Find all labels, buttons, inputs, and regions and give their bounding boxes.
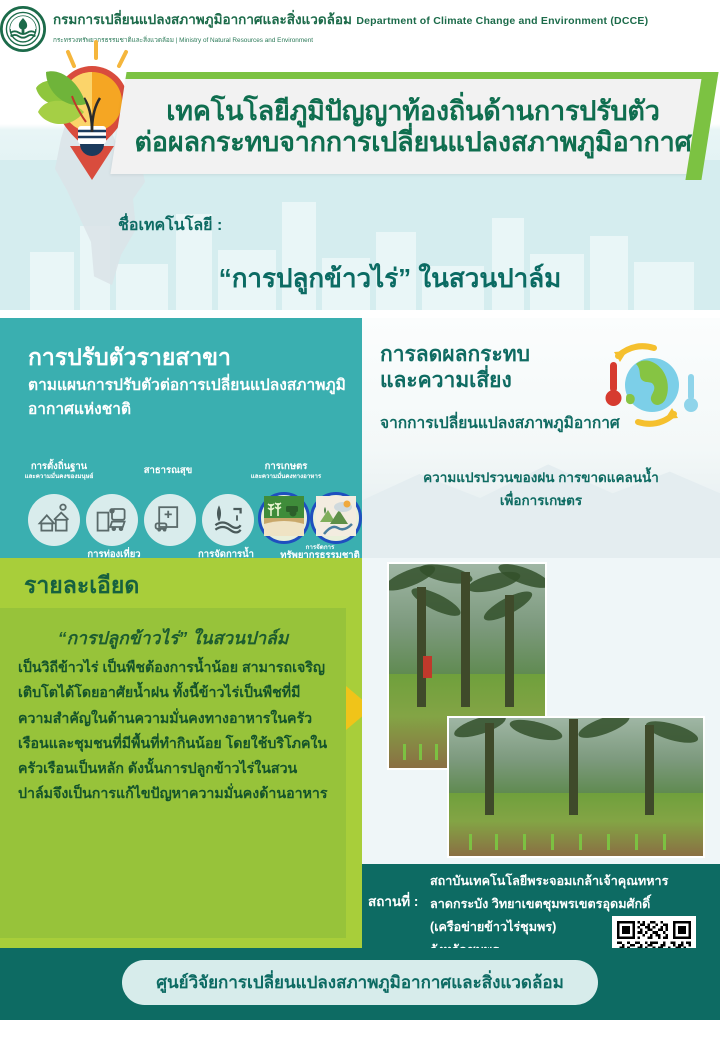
page-title-line1: เทคโนโลยีภูมิปัญญาท้องถิ่นด้านการปรับตัว bbox=[128, 96, 698, 127]
mitigation-heading: การลดผลกระทบ และความเสี่ยง bbox=[380, 342, 590, 393]
poster-root: กรมการเปลี่ยนแปลงสภาพภูมิอากาศและสิ่งแวด… bbox=[0, 0, 720, 1040]
natural-resources-icon bbox=[316, 496, 356, 541]
sector-sublabel-settlement: และความมั่นคงของมนุษย์ bbox=[6, 473, 112, 480]
mitigation-body: ความแปรปรวนของฝน การขาดแคลนน้ำ เพื่อการเ… bbox=[362, 466, 720, 512]
poster-footer: ศูนย์วิจัยการเปลี่ยนแปลงสภาพภูมิอากาศและ… bbox=[0, 948, 720, 1020]
adaptation-subheading: ตามแผนการปรับตัวต่อการเปลี่ยนแปลงสภาพภูม… bbox=[28, 374, 348, 422]
mitigation-heading-line2: และความเสี่ยง bbox=[380, 369, 512, 392]
technology-name-value: “การปลูกข้าวไร่” ในสวนปาล์ม bbox=[0, 258, 720, 299]
page-title: เทคโนโลยีภูมิปัญญาท้องถิ่นด้านการปรับตัว… bbox=[128, 82, 698, 172]
sector-caption-settlement: การตั้งถิ่นฐาน และความมั่นคงของมนุษย์ bbox=[6, 462, 112, 480]
sector-icon-agriculture[interactable] bbox=[258, 492, 310, 544]
sector-icon-settlement[interactable] bbox=[28, 494, 80, 546]
public-health-icon bbox=[152, 500, 188, 541]
location-label: สถานที่ : bbox=[368, 890, 418, 912]
mitigation-panel: การลดผลกระทบ และความเสี่ยง จากการเปลี่ยน… bbox=[362, 318, 720, 558]
sector-icon-row: การตั้งถิ่นฐาน และความมั่นคงของมนุษย์ สา… bbox=[6, 466, 358, 554]
details-body: เป็นวิถีข้าวไร่ เป็นพืชต้องการน้ำน้อย สา… bbox=[18, 656, 330, 808]
photo-gallery bbox=[362, 558, 720, 864]
details-heading: รายละเอียด bbox=[24, 568, 139, 604]
footer-organization-name: ศูนย์วิจัยการเปลี่ยนแปลงสภาพภูมิอากาศและ… bbox=[122, 960, 598, 1005]
sector-label-agriculture: การเกษตร bbox=[265, 461, 308, 472]
details-content-box: “การปลูกข้าวไร่” ในสวนปาล์ม เป็นวิถีข้าว… bbox=[0, 608, 346, 938]
adaptation-panel: การปรับตัวรายสาขา ตามแผนการปรับตัวต่อการ… bbox=[0, 318, 362, 558]
sector-caption-agriculture: การเกษตร และความมั่นคงทางอาหาร bbox=[234, 462, 338, 480]
sector-icon-water-management[interactable] bbox=[202, 494, 254, 546]
logo-thai-name: กรมการเปลี่ยนแปลงสภาพภูมิอากาศและสิ่งแวด… bbox=[53, 12, 352, 27]
logo-english-name: Department of Climate Change and Environ… bbox=[356, 15, 648, 27]
sector-caption-public-health: สาธารณสุข bbox=[122, 466, 214, 477]
details-panel: รายละเอียด “การปลูกข้าวไร่” ในสวนปาล์ม เ… bbox=[0, 558, 362, 948]
sector-icon-natural-resources[interactable] bbox=[310, 492, 362, 544]
technology-name-label: ชื่อเทคโนโลยี : bbox=[118, 213, 222, 238]
mitigation-body-line1: ความแปรปรวนของฝน การขาดแคลนน้ำ bbox=[423, 470, 659, 485]
poster-header: กรมการเปลี่ยนแปลงสภาพภูมิอากาศและสิ่งแวด… bbox=[0, 0, 720, 310]
mitigation-heading-line1: การลดผลกระทบ bbox=[380, 343, 530, 366]
globe-thermometer-icon bbox=[590, 340, 702, 432]
adaptation-heading: การปรับตัวรายสาขา bbox=[28, 340, 231, 376]
location-line-1: สถาบันเทคโนโลยีพระจอมเกล้าเจ้าคุณทหาร bbox=[430, 870, 670, 893]
sector-label-public-health: สาธารณสุข bbox=[144, 465, 192, 476]
sector-icon-tourism[interactable] bbox=[86, 494, 138, 546]
footer-bottom-strip bbox=[0, 1020, 720, 1040]
water-management-icon bbox=[210, 500, 246, 541]
mitigation-body-line2: เพื่อการเกษตร bbox=[500, 493, 582, 508]
page-title-line2: ต่อผลกระทบจากการเปลี่ยนแปลงสภาพภูมิอากาศ bbox=[128, 127, 698, 158]
tourism-icon bbox=[94, 500, 130, 541]
sector-label-settlement: การตั้งถิ่นฐาน bbox=[31, 461, 87, 472]
sector-icon-public-health[interactable] bbox=[144, 494, 196, 546]
details-title: “การปลูกข้าวไร่” ในสวนปาล์ม bbox=[0, 624, 346, 652]
settlement-icon bbox=[36, 500, 72, 541]
sector-sublabel-agriculture: และความมั่นคงทางอาหาร bbox=[234, 473, 338, 480]
sprinkler-irrigation-palm-photo-2 bbox=[447, 716, 705, 858]
agriculture-icon bbox=[264, 496, 304, 541]
location-line-2: ลาดกระบัง วิทยาเขตชุมพรเขตรอุดมศักดิ์ bbox=[430, 893, 670, 916]
